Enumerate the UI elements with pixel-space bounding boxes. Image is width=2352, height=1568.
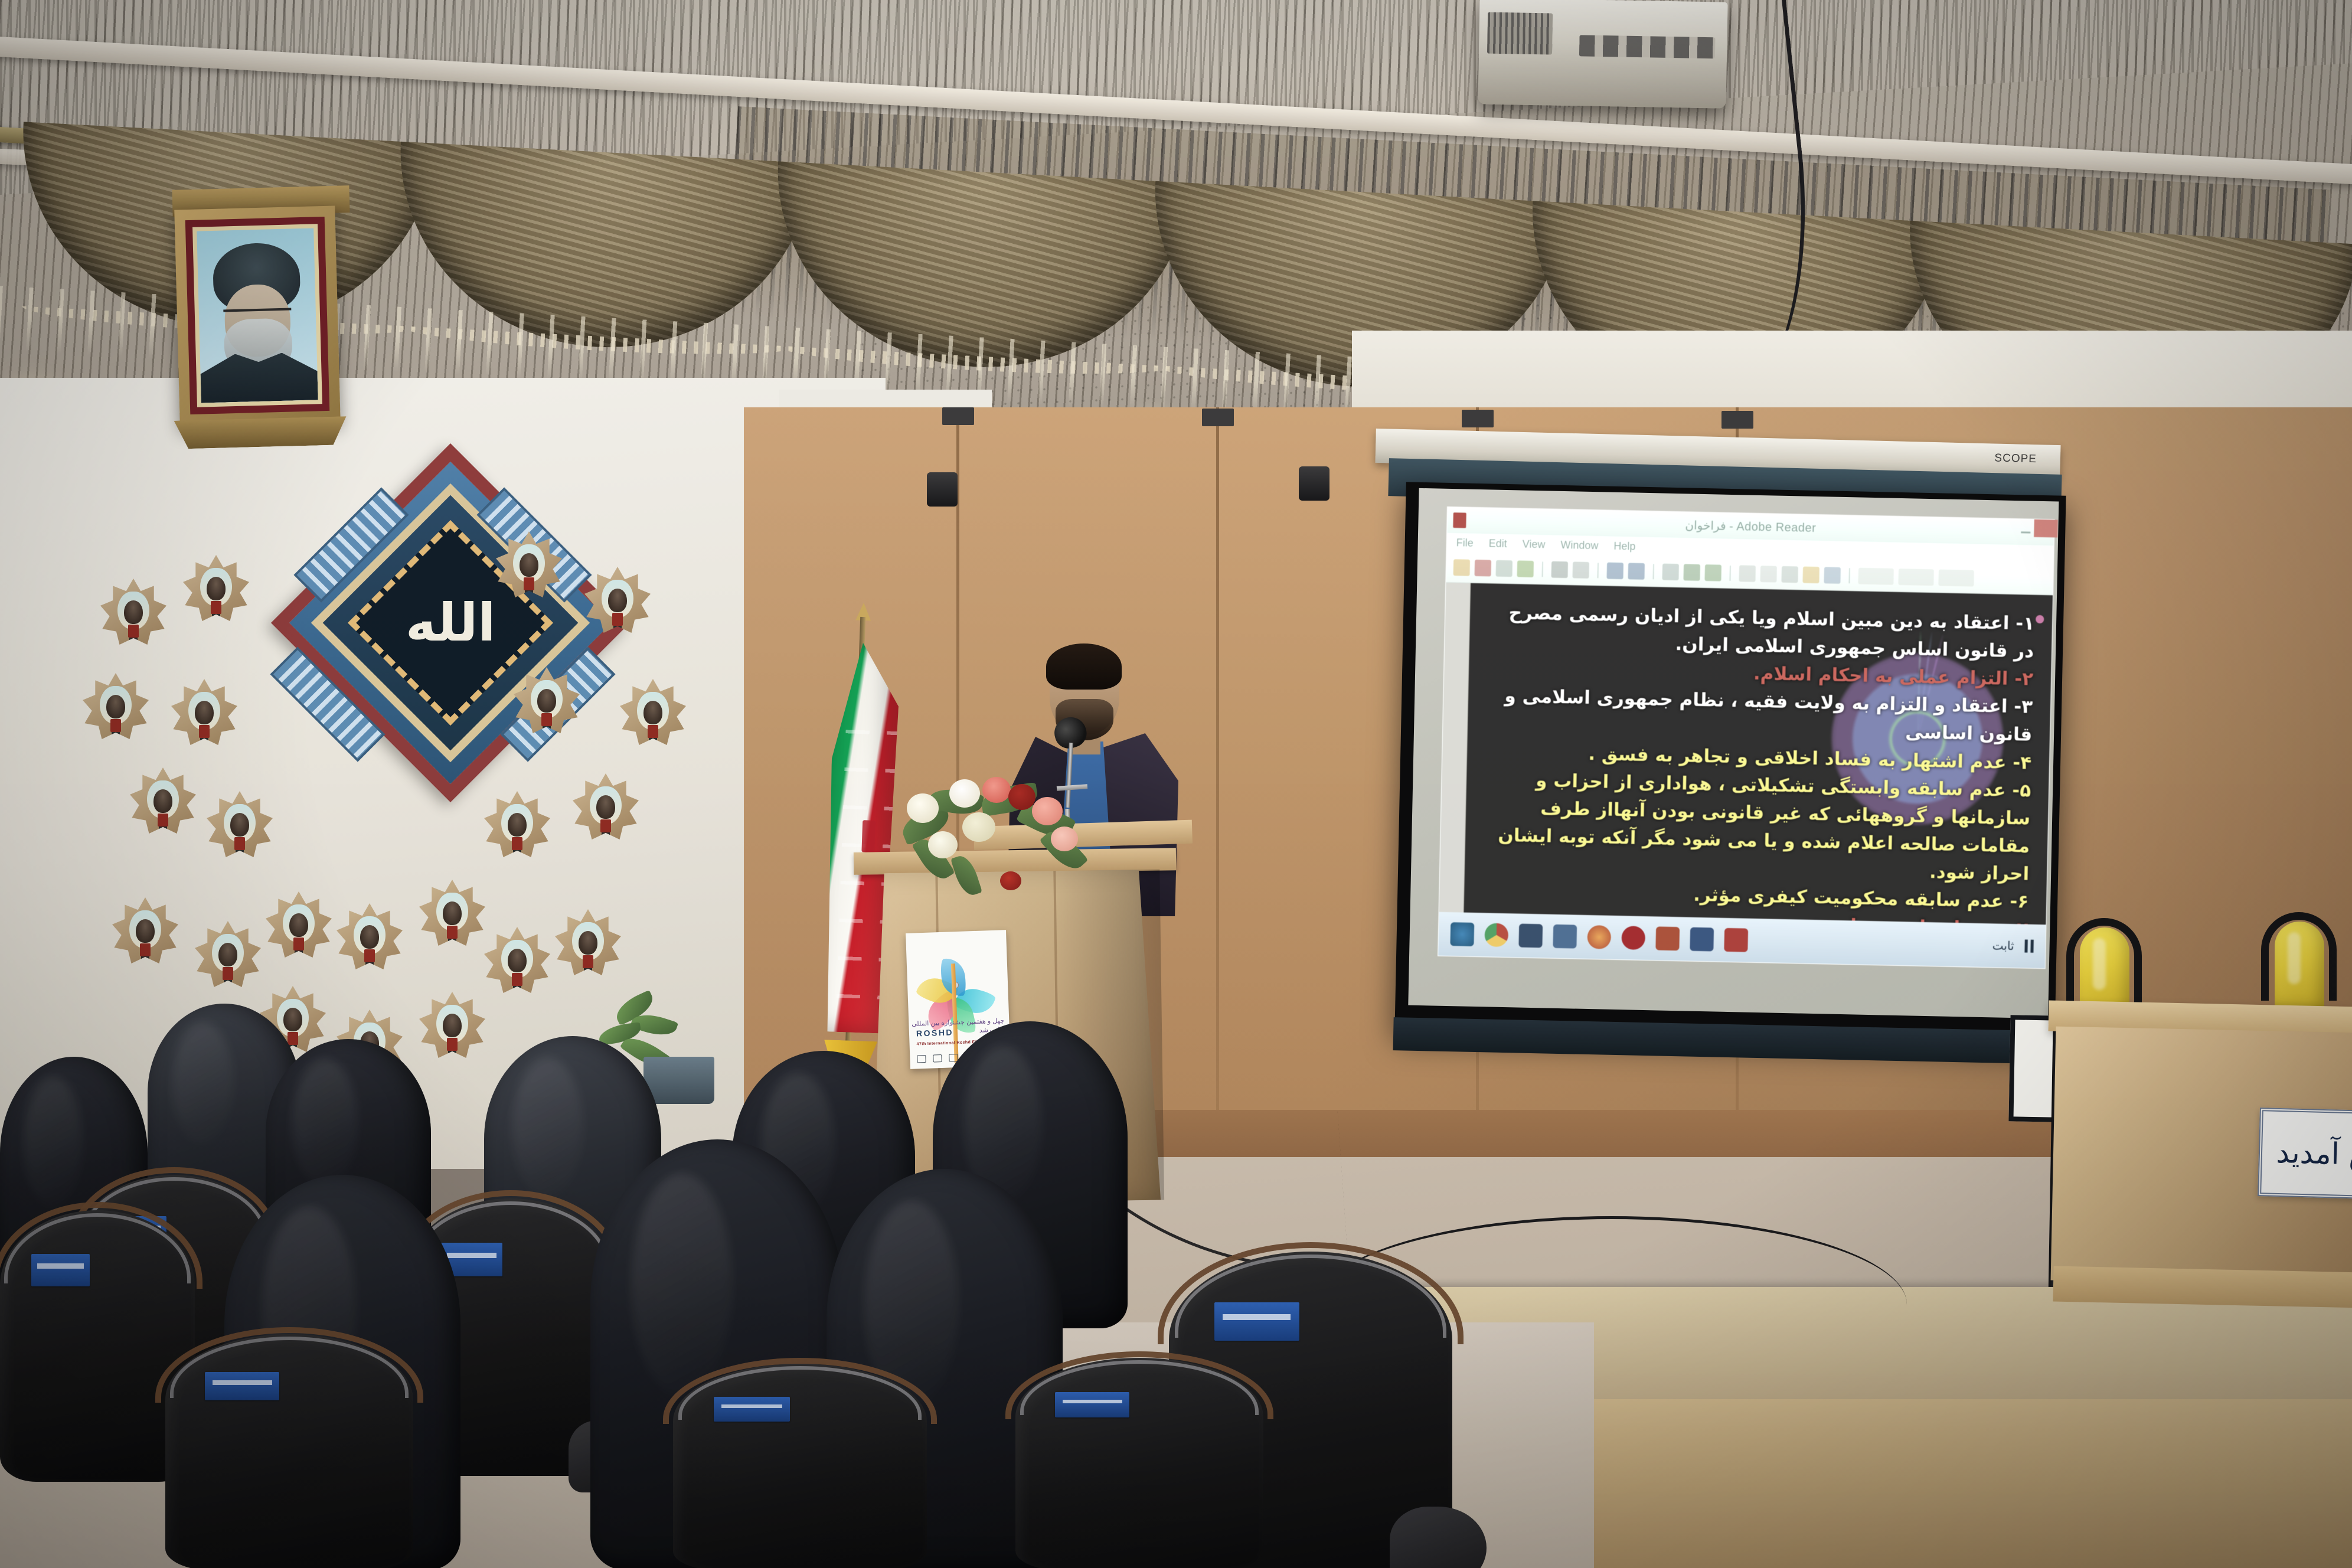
menu-item-file[interactable]: File <box>1456 537 1474 550</box>
screen-brand-label: SCOPE <box>1994 452 2037 466</box>
sign-icon[interactable] <box>1517 560 1534 577</box>
head-table-base <box>2053 1266 2352 1308</box>
menu-item-view[interactable]: View <box>1523 538 1546 551</box>
save-icon[interactable] <box>1475 559 1492 576</box>
martyr-plaque <box>266 891 332 958</box>
taskbar-status: ثابت <box>1992 938 2034 953</box>
wall-speaker-left <box>927 472 958 507</box>
file-explorer-icon[interactable] <box>1553 925 1577 949</box>
slide-line-5: ۵- عدم سابقه وابستگی تشکیلاتی ، هواداری … <box>1482 766 2031 888</box>
fit-page-icon[interactable] <box>1739 565 1756 582</box>
martyr-plaque <box>573 773 639 839</box>
flag-emblem <box>861 820 876 852</box>
media-player-icon[interactable] <box>1518 924 1543 948</box>
martyr-plaque <box>112 897 178 963</box>
welcome-sign-text: خوش آمدید <box>2276 1135 2352 1173</box>
firefox-icon[interactable] <box>1587 925 1611 949</box>
wall-speaker-mid <box>1299 466 1329 501</box>
powerpoint-icon[interactable] <box>1655 926 1680 950</box>
menu-item-window[interactable]: Window <box>1560 538 1598 551</box>
projection-screen: فراخوان - Adobe Reader File Edit View Wi… <box>1394 482 2066 1044</box>
portrait-bottom-crest <box>174 416 347 449</box>
text-tool-icon[interactable] <box>1824 567 1841 584</box>
select-tool-icon[interactable] <box>1573 561 1590 579</box>
martyr-plaque <box>337 903 403 969</box>
print-icon[interactable] <box>1551 561 1569 578</box>
portrait-image <box>197 228 318 403</box>
word-icon[interactable] <box>1690 927 1714 952</box>
adobe-reader-window[interactable]: فراخوان - Adobe Reader File Edit View Wi… <box>1438 507 2055 969</box>
martyr-plaque <box>419 880 485 946</box>
martyrs-memorial-wall: الله <box>89 490 750 1033</box>
rotate-icon[interactable] <box>1760 565 1777 582</box>
close-icon[interactable] <box>2034 520 2058 538</box>
menu-item-edit[interactable]: Edit <box>1489 537 1507 550</box>
adobe-reader-taskbar-icon[interactable] <box>1724 928 1748 952</box>
slide-text-block: ۱- اعتقاد به دین مبین اسلام ویا یکی از ا… <box>1463 583 2053 969</box>
auditorium-chair <box>1015 1358 1263 1568</box>
next-page-icon[interactable] <box>1628 563 1645 580</box>
open-file-icon[interactable] <box>1453 559 1471 576</box>
highlight-icon[interactable] <box>1802 566 1819 583</box>
martyr-plaque <box>555 909 621 975</box>
martyr-plaque <box>195 921 261 987</box>
taskbar-status-text: ثابت <box>1992 938 2014 953</box>
zoom-out-icon[interactable] <box>1662 563 1679 580</box>
martyr-plaque <box>183 555 249 621</box>
pdf-page: ۱- اعتقاد به دین مبین اسلام ویا یکی از ا… <box>1463 583 2053 969</box>
auditorium-chair <box>165 1334 413 1568</box>
wall-portrait-frame <box>174 206 340 426</box>
menu-item-help[interactable]: Help <box>1613 540 1635 553</box>
martyr-plaque <box>484 791 550 857</box>
martyr-plaque <box>171 679 237 745</box>
previous-page-icon[interactable] <box>1607 562 1624 579</box>
chrome-icon[interactable] <box>1484 923 1508 947</box>
portrait-mat-outer <box>185 217 330 414</box>
screen-surface: فراخوان - Adobe Reader File Edit View Wi… <box>1408 488 2059 1019</box>
email-icon[interactable] <box>1496 560 1513 577</box>
martyr-plaque <box>207 791 273 857</box>
internet-explorer-icon[interactable] <box>1450 922 1474 946</box>
martyr-plaque <box>83 673 149 739</box>
auditorium-chair <box>673 1364 927 1568</box>
zoom-in-icon[interactable] <box>1704 564 1721 582</box>
zoom-level-icon[interactable] <box>1683 564 1700 581</box>
speaker-hair <box>1046 643 1122 690</box>
opera-icon[interactable] <box>1621 926 1645 950</box>
allah-glyph: الله <box>406 597 496 649</box>
pause-icon[interactable] <box>2024 940 2033 953</box>
martyr-plaque <box>484 927 550 993</box>
welcome-sign: خوش آمدید <box>2258 1108 2352 1201</box>
portrait-mat-inner <box>192 224 322 407</box>
comment-icon[interactable] <box>1781 566 1798 583</box>
martyr-plaque <box>130 767 196 834</box>
martyr-plaque <box>620 679 686 745</box>
allah-calligraphy-plaque: الله <box>271 443 630 802</box>
flower-arrangement <box>893 777 1087 913</box>
share-pane-button[interactable] <box>1938 569 1974 586</box>
martyr-plaque <box>100 579 166 645</box>
document-area[interactable]: ۱- اعتقاد به دین مبین اسلام ویا یکی از ا… <box>1438 583 2053 968</box>
projector-vents <box>1487 12 1553 55</box>
comment-pane-button[interactable] <box>1898 568 1934 585</box>
tools-pane-button[interactable] <box>1858 567 1894 584</box>
auditorium-photo-scene: الله <box>0 0 2352 1568</box>
